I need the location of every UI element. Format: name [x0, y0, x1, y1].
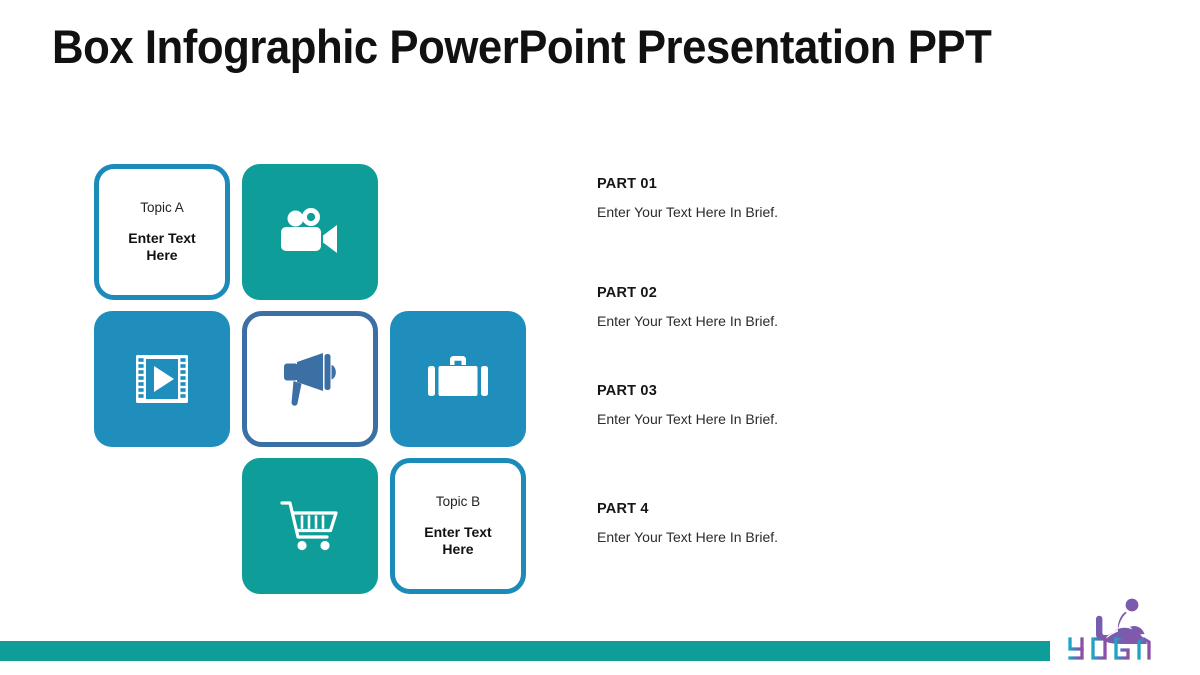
part-title: PART 03: [597, 382, 1057, 400]
tile-topic-a[interactable]: Topic A Enter Text Here: [94, 164, 230, 300]
part-item-03: PART 03 Enter Your Text Here In Brief.: [597, 382, 1057, 428]
part-title: PART 01: [597, 175, 1057, 193]
seated-yoga-figure-icon: [1096, 599, 1147, 644]
tile-video-camera[interactable]: [242, 164, 378, 300]
film-play-icon: [135, 354, 189, 404]
megaphone-icon: [279, 349, 341, 409]
part-description: Enter Your Text Here In Brief.: [597, 410, 1057, 428]
tile-briefcase[interactable]: [390, 311, 526, 447]
box-infographic-grid: Topic A Enter Text Here: [94, 164, 534, 594]
page-title: Box Infographic PowerPoint Presentation …: [52, 18, 1075, 76]
yoga-logo: [1062, 596, 1186, 664]
tile-topic-a-body-line1: Enter Text: [128, 230, 195, 246]
tile-topic-a-label: Topic A: [140, 200, 184, 216]
briefcase-icon: [428, 355, 488, 403]
part-title: PART 02: [597, 284, 1057, 302]
part-description: Enter Your Text Here In Brief.: [597, 203, 1057, 221]
footer-accent-bar: [0, 641, 1050, 661]
tile-topic-b[interactable]: Topic B Enter Text Here: [390, 458, 526, 594]
part-item-01: PART 01 Enter Your Text Here In Brief.: [597, 175, 1057, 221]
video-camera-icon: [279, 208, 341, 256]
part-description: Enter Your Text Here In Brief.: [597, 312, 1057, 330]
tile-topic-b-body: Enter Text Here: [424, 524, 491, 558]
part-description: Enter Your Text Here In Brief.: [597, 528, 1057, 546]
tile-topic-b-body-line2: Here: [442, 541, 473, 557]
tile-film-play[interactable]: [94, 311, 230, 447]
tile-topic-a-body: Enter Text Here: [128, 230, 195, 264]
tile-topic-b-label: Topic B: [436, 494, 480, 510]
tile-megaphone[interactable]: [242, 311, 378, 447]
tile-shopping-cart[interactable]: [242, 458, 378, 594]
tile-topic-a-body-line2: Here: [146, 247, 177, 263]
part-item-04: PART 4 Enter Your Text Here In Brief.: [597, 500, 1057, 546]
part-item-02: PART 02 Enter Your Text Here In Brief.: [597, 284, 1057, 330]
tile-topic-b-body-line1: Enter Text: [424, 524, 491, 540]
part-title: PART 4: [597, 500, 1057, 518]
shopping-cart-icon: [280, 499, 340, 553]
